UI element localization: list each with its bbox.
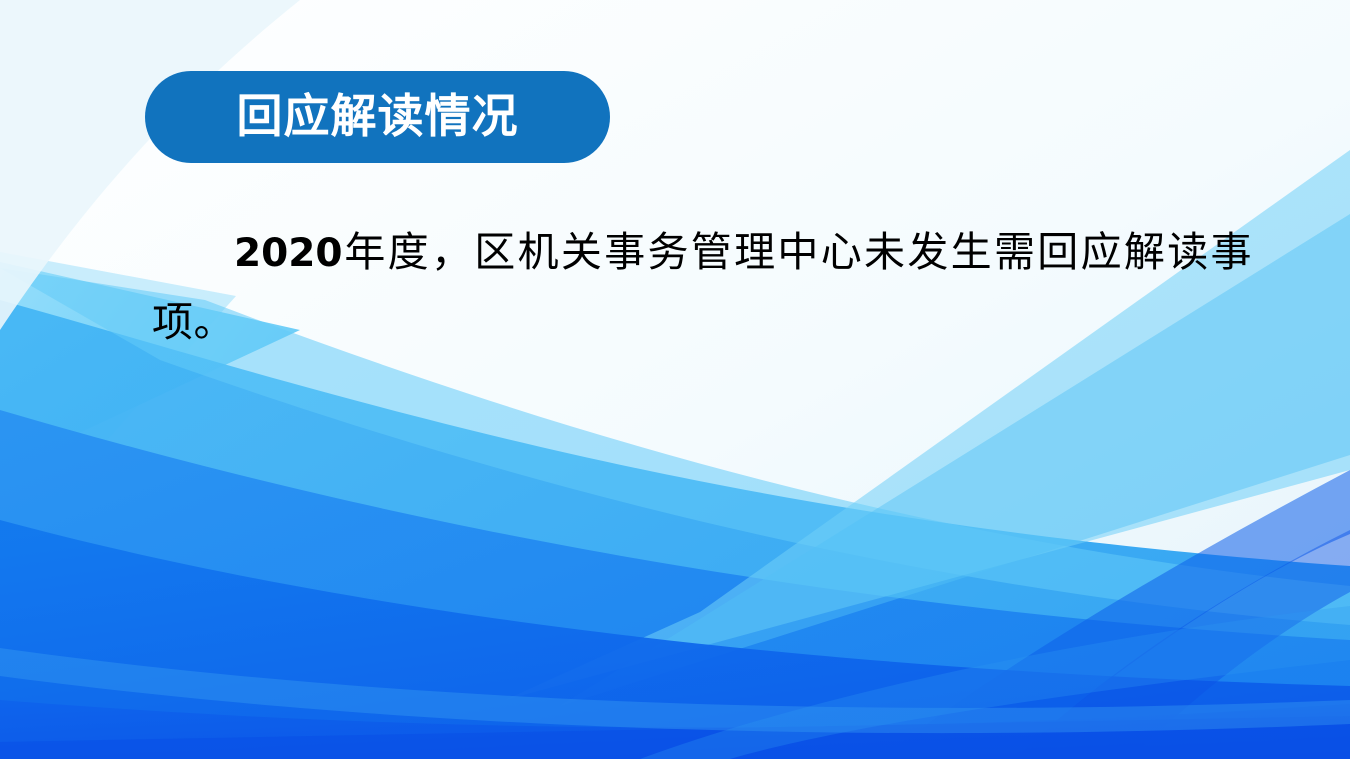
section-title-badge: 回应解读情况 [145,71,610,163]
body-paragraph: 2020年度，区机关事务管理中心未发生需回应解读事项。 [152,218,1252,356]
year-value: 2020 [234,231,343,276]
slide-canvas: 回应解读情况 2020年度，区机关事务管理中心未发生需回应解读事项。 [0,0,1350,759]
section-title-label: 回应解读情况 [237,93,519,139]
